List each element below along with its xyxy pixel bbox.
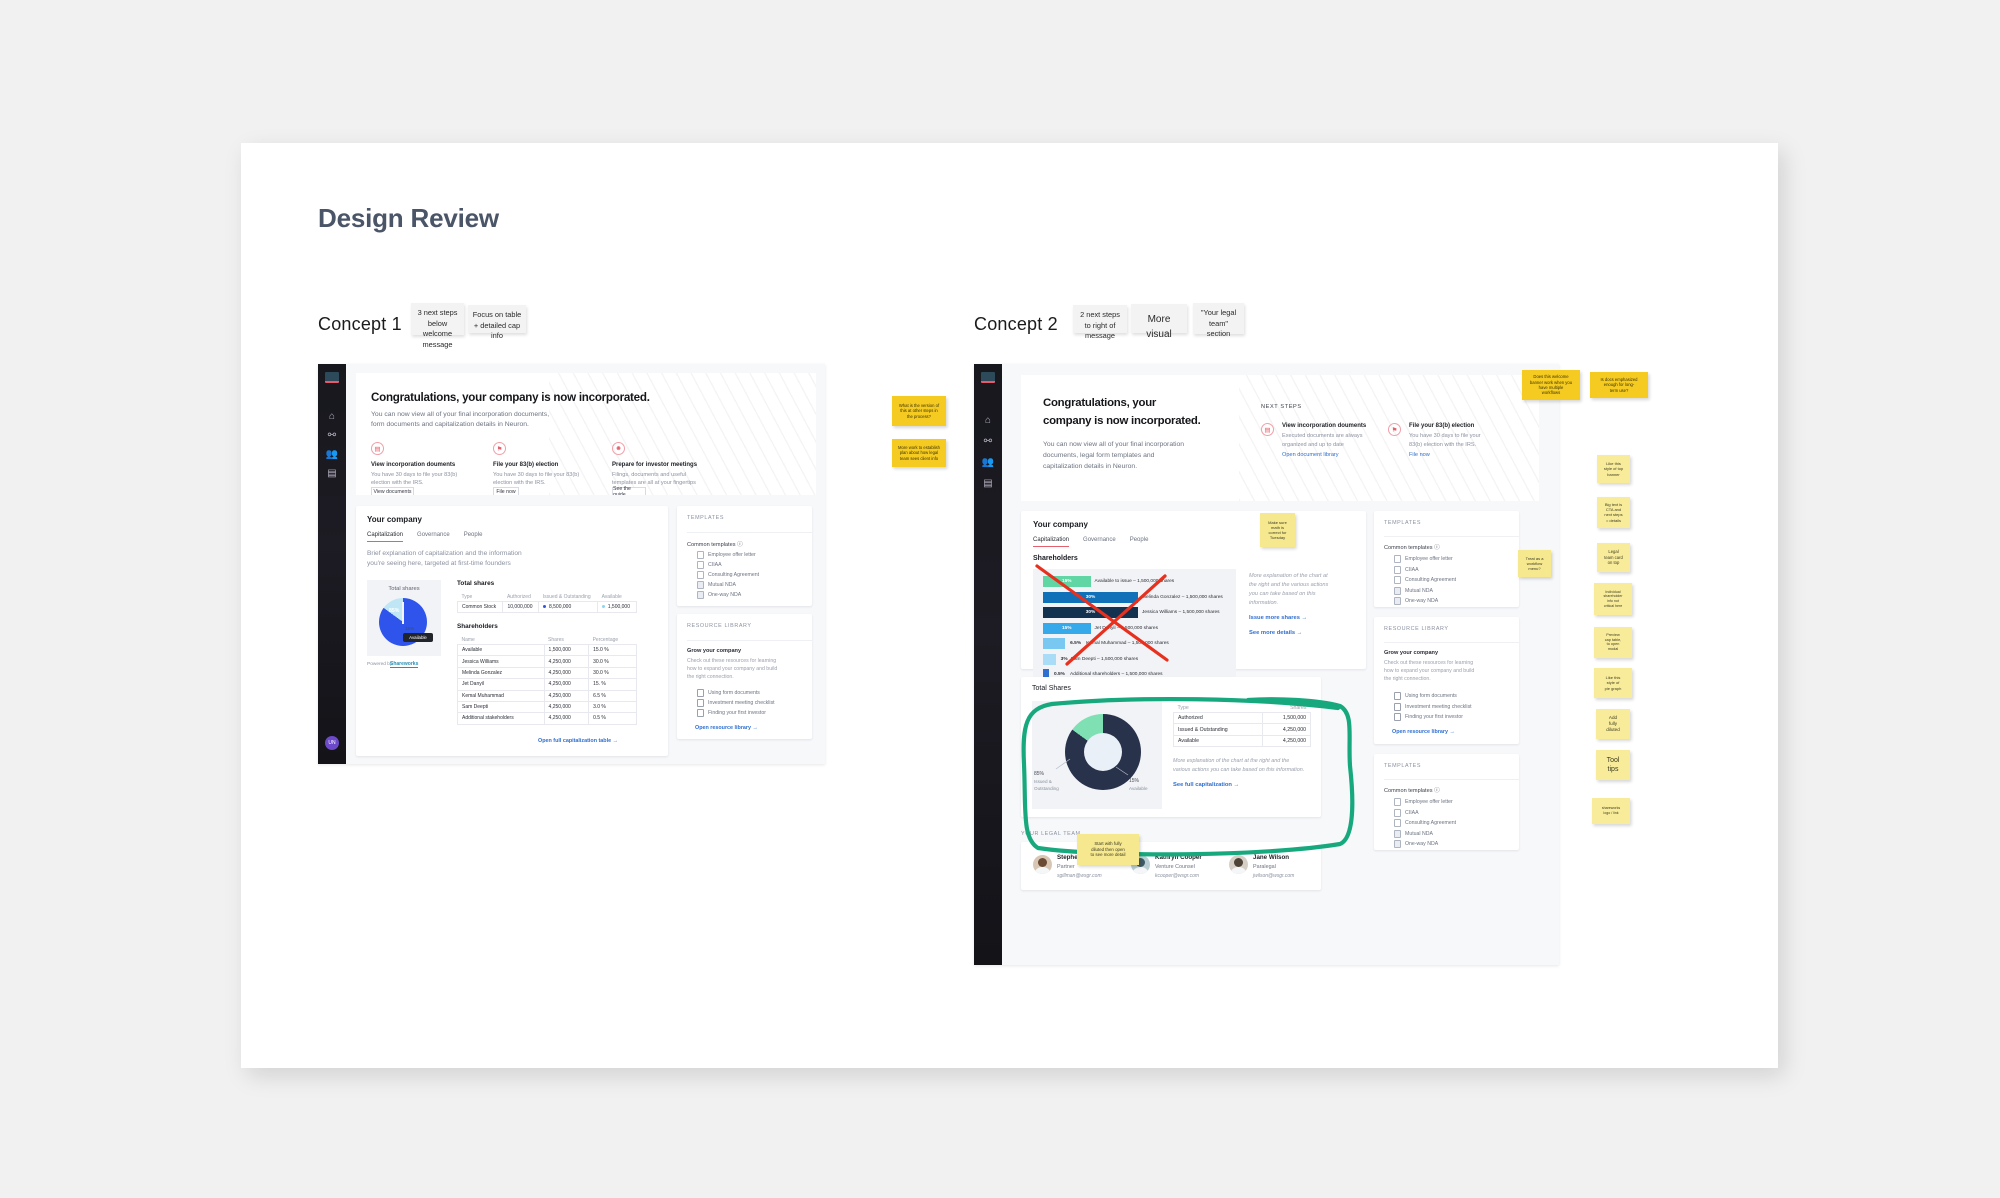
templates-kicker-2: TEMPLATES (1384, 763, 1421, 769)
total-shares-card: Total Shares 85% Issued & Outstanding 15… (1021, 677, 1321, 817)
list-item-label: Using form documents (708, 690, 760, 696)
resources-kicker: RESOURCE LIBRARY (1384, 626, 1449, 632)
total-shares-table: Type Authorized Issued & Outstanding Ava… (457, 592, 637, 613)
org-chart-icon[interactable]: ⚯ (982, 435, 994, 447)
bar-5 (1043, 654, 1056, 665)
banner-body-1: You can now view all of your final incor… (1043, 441, 1184, 448)
see-full-capitalization-link[interactable]: See full capitalization → (1173, 782, 1239, 788)
person-role: Paralegal (1253, 864, 1276, 870)
sticky-note-line: critical here (1594, 604, 1632, 609)
donut-panel: 85% Issued & Outstanding 15% Available (1032, 701, 1162, 809)
sticky-note-line: banner (1597, 472, 1630, 477)
table-header-row: NameSharesPercentage (458, 635, 637, 645)
documents-icon[interactable]: ▤ (982, 477, 994, 489)
cell-2: 15. % (589, 679, 637, 690)
legend-dot-issued (543, 605, 546, 608)
total-shares-note-2: various actions you can take based on th… (1173, 767, 1304, 773)
table-row: Available4,250,000 (1174, 735, 1311, 746)
sticky-note-line: logo / link (1592, 811, 1630, 816)
step-1-title: View incorporation douments (1282, 423, 1366, 429)
bar-label: Jessica Williams – 1,500,000 shares (1142, 610, 1220, 615)
templates-kicker: TEMPLATES (687, 515, 724, 521)
file-now-button[interactable]: File now (493, 487, 519, 495)
list-item-label: Using form documents (1405, 693, 1457, 699)
bar-percent-outside: 3% (1061, 657, 1068, 662)
step-2-desc-2: 83(b) election with the IRS. (1409, 442, 1476, 448)
step-1-title: View incorporation douments (371, 462, 455, 468)
your-company-card: Your company Capitalization Governance P… (356, 506, 668, 756)
step-2-desc-1: You have 30 days to file your (1409, 433, 1481, 439)
list-item-label: Investment meeting checklist (708, 700, 775, 706)
cell-0: Issued & Outstanding (1174, 724, 1263, 735)
bar-label: Sam Deepti – 1,500,000 shares (1071, 657, 1138, 662)
sticky-note[interactable]: Addfullydiluted (1596, 709, 1630, 739)
cell-0: Melinda Gonzalez (458, 667, 545, 678)
th-available: Available (598, 592, 637, 602)
sticky-note[interactable]: shareworkslogo / link (1592, 798, 1630, 824)
bar-percent: 30% (1086, 610, 1096, 615)
info-icon[interactable]: ⓘ (737, 542, 743, 548)
open-resource-library-link[interactable]: Open resource library → (1392, 729, 1455, 735)
app-logo-icon (325, 372, 339, 383)
document-icon (697, 571, 704, 579)
sticky-note[interactable]: Treat as aworkflowmenu? (1518, 550, 1551, 577)
list-item-label: Mutual NDA (1405, 831, 1433, 837)
cell-issued-value: 8,500,000 (549, 604, 571, 610)
chart-note-3: you can take based on this (1249, 591, 1316, 597)
sticky-note[interactable]: Previewcap table,to openmodal (1594, 627, 1632, 658)
cell-2: 6.5 % (589, 690, 637, 701)
th-2: Percentage (589, 635, 637, 645)
list-item-label: One-way NDA (1405, 598, 1438, 604)
table-row: Common Stock 10,000,000 8,500,000 1,500,… (458, 602, 637, 613)
list-item[interactable]: One-way NDA (1394, 840, 1438, 848)
list-item-label: Finding your first investor (1405, 714, 1463, 720)
list-item[interactable]: Consulting Agreement (1394, 576, 1456, 584)
documents-icon[interactable]: ▤ (326, 467, 338, 479)
step-1-desc-1: Executed documents are always (1282, 433, 1363, 439)
resources-heading: Grow your company (687, 648, 741, 654)
banner-body-line-2: form documents and capitalization detail… (371, 421, 529, 428)
pie-label-issued: 85% (389, 608, 399, 614)
info-icon[interactable]: ⓘ (1434, 788, 1440, 794)
divider (1384, 779, 1519, 780)
open-cap-table-link[interactable]: Open full capitalization table → (538, 738, 618, 744)
sticky-note[interactable]: More work to establishplan about how leg… (892, 439, 946, 467)
cell-0: Sam Deepti (458, 701, 545, 712)
book-icon (1394, 692, 1401, 700)
legend-dot-available (602, 605, 605, 608)
divider (687, 532, 812, 533)
list-item[interactable]: Investment meeting checklist (697, 699, 775, 707)
step-2-desc-1: You have 30 days to file your 83(b) (493, 472, 579, 478)
resources-heading: Grow your company (1384, 650, 1438, 656)
cell-1: 4,250,000 (1262, 724, 1310, 735)
sticky-note-line: team sees client info (892, 456, 946, 461)
divider (1384, 642, 1519, 643)
cell-issued: 8,500,000 (539, 602, 598, 613)
document-icon (1394, 830, 1401, 838)
th-authorized: Authorized (503, 592, 539, 602)
list-item-label: Consulting Agreement (1405, 577, 1456, 583)
sticky-note-line: the process? (892, 414, 946, 419)
document-icon (1394, 809, 1401, 817)
list-item-label: Finding your first investor (708, 710, 766, 716)
concept-2-label: Concept 2 (974, 314, 1058, 335)
capitalization-blurb-2: you're seeing here, targeted at first-ti… (367, 560, 511, 567)
list-item[interactable]: Consulting Agreement (1394, 819, 1456, 827)
table-row: Kemal Muhammad4,250,0006.5 % (458, 690, 637, 701)
concept-2-chip-2: More visual (1131, 304, 1187, 333)
chart-note-4: information. (1249, 600, 1278, 606)
bar-2: 30% (1043, 607, 1138, 618)
th-1: Shares (1262, 703, 1310, 713)
step-1-desc-2: election with the IRS. (371, 480, 424, 486)
resources-body-2: how to expand your company and build (687, 666, 777, 672)
document-icon (1394, 555, 1401, 563)
document-icon (1394, 798, 1401, 806)
concept-2-mockup: ⌂ ⚯ 👥 ▤ Congratulations, your company is… (974, 364, 1559, 965)
powered-by-label: Powered by (367, 662, 392, 667)
document-icon (1394, 819, 1401, 827)
cell-1: 1,500,000 (544, 645, 589, 656)
cell-available: 1,500,000 (598, 602, 637, 613)
tab-capitalization[interactable]: Capitalization (367, 532, 403, 538)
list-item-label: Employee offer letter (1405, 799, 1453, 805)
document-icon (697, 581, 704, 589)
document-icon (697, 561, 704, 569)
cell-1: 4,250,000 (544, 690, 589, 701)
section-title: Your company (367, 515, 422, 524)
shareholders-title: Shareholders (1033, 555, 1078, 562)
concept-2-chip-1: 2 next steps to right of message (1073, 305, 1127, 333)
sticky-note-line: modal (1594, 647, 1632, 652)
divider (1384, 536, 1519, 537)
tab-people[interactable]: People (464, 532, 483, 538)
bar-label: Jet Danyil – 1,500,000 shares (1095, 626, 1158, 631)
resource-library-card: RESOURCE LIBRARY Grow your company Check… (1374, 617, 1519, 744)
list-item-label: CIIAA (708, 562, 722, 568)
concept-2-chip-3: "Your legal team" section (1193, 303, 1244, 334)
tab-governance[interactable]: Governance (1083, 537, 1116, 543)
avatar[interactable]: UN (325, 736, 339, 750)
templates-heading: Common templates ⓘ (1384, 543, 1440, 551)
app-sidebar: ⌂ ⚯ 👥 ▤ (974, 364, 1002, 965)
resources-body-1: Check out these resources for learning (687, 658, 776, 664)
welcome-banner: Congratulations, your company is now inc… (1021, 375, 1539, 501)
pie-caption: Total shares (367, 586, 441, 592)
list-item[interactable]: CIIAA (697, 561, 722, 569)
avatar (1229, 855, 1248, 874)
sticky-note-line: workflows (1522, 390, 1580, 395)
document-icon (1394, 597, 1401, 605)
see-more-details-link[interactable]: See more details → (1249, 630, 1302, 636)
table-row: Available1,500,00015.0 % (458, 645, 637, 656)
list-item[interactable]: Employee offer letter (1394, 555, 1453, 563)
list-item[interactable]: CIIAA (1394, 809, 1419, 817)
table-header-row: Type Authorized Issued & Outstanding Ava… (458, 592, 637, 602)
cell-1: 4,250,000 (544, 667, 589, 678)
filing-icon: ⚑ (493, 442, 506, 455)
table-row: Sam Deepti4,250,0003.0 % (458, 701, 637, 712)
book-icon (697, 689, 704, 697)
home-icon[interactable]: ⌂ (326, 410, 338, 422)
step-2-desc-2: election with the IRS. (493, 480, 546, 486)
list-item-label: Employee offer letter (708, 552, 756, 558)
total-shares-note-1: More explanation of the chart at the rig… (1173, 758, 1289, 764)
banner-heading-line-1: Congratulations, your (1043, 397, 1156, 409)
resources-body-2: how to expand your company and build (1384, 668, 1474, 674)
sticky-note-line: this at other steps in (892, 408, 946, 413)
table-row: Authorized1,500,000 (1174, 713, 1311, 724)
divider (687, 640, 812, 641)
templates-kicker: TEMPLATES (1384, 520, 1421, 526)
sticky-note-line: pie graph (1594, 686, 1632, 691)
document-icon: ▤ (1261, 423, 1274, 436)
th-type: Type (458, 592, 503, 602)
next-steps-kicker: NEXT STEPS (1261, 404, 1302, 410)
list-item-label: One-way NDA (708, 592, 741, 598)
tab-governance[interactable]: Governance (417, 532, 450, 538)
cell-1: 4,250,000 (544, 679, 589, 690)
bar-percent-outside: 6.5% (1070, 641, 1081, 646)
shareholders-title: Shareholders (457, 623, 498, 630)
banner-body-line-1: You can now view all of your final incor… (371, 411, 549, 418)
filing-icon: ⚑ (1388, 423, 1401, 436)
th-0: Type (1174, 703, 1263, 713)
bar-1: 30% (1043, 592, 1138, 603)
resources-body-3: the right connection. (687, 674, 734, 680)
open-resource-library-link[interactable]: Open resource library → (695, 725, 758, 731)
banner-heading-line-2: company is now incorporated. (1043, 415, 1201, 427)
org-chart-icon[interactable]: ⚯ (326, 429, 338, 441)
sticky-note[interactable]: Tooltips (1596, 750, 1630, 780)
sticky-note-line: to see more detail (1077, 852, 1139, 858)
sticky-note-line: diluted (1596, 727, 1630, 733)
person-role: Venture Counsel (1155, 864, 1195, 870)
person-name: Kathryn Cooper (1155, 854, 1202, 861)
sticky-note[interactable]: Does this welcomebanner work when youhav… (1522, 370, 1580, 400)
sticky-note[interactable]: Start with fullydiluted then opento see … (1077, 834, 1139, 865)
sticky-note-line: tips (1596, 765, 1630, 774)
templates-card: TEMPLATES Common templates ⓘ Employee of… (677, 506, 812, 606)
table-row: Jet Danyil4,250,00015. % (458, 679, 637, 690)
cell-2: 3.0 % (589, 701, 637, 712)
cell-0: Authorized (1174, 713, 1263, 724)
resources-body-1: Check out these resources for learning (1384, 660, 1473, 666)
people-icon[interactable]: 👥 (326, 448, 338, 460)
templates-heading-2: Common templates ⓘ (1384, 786, 1440, 794)
cell-1: 4,250,000 (544, 701, 589, 712)
resource-library-card: RESOURCE LIBRARY Grow your company Check… (677, 614, 812, 739)
th-issued: Issued & Outstanding (539, 592, 598, 602)
document-icon (697, 591, 704, 599)
total-shares-pie-panel: Total shares 85% 15% Available (367, 580, 441, 656)
capitalization-blurb-1: Brief explanation of capitalization and … (367, 550, 522, 557)
templates-card-2: TEMPLATES Common templates ⓘ Employee of… (1374, 754, 1519, 850)
th-0: Name (458, 635, 545, 645)
view-documents-button[interactable]: View documents (371, 487, 414, 495)
list-item-label: Employee offer letter (1405, 556, 1453, 562)
list-item[interactable]: Employee offer letter (697, 551, 756, 559)
app-logo-icon (981, 372, 995, 383)
list-item[interactable]: Mutual NDA (697, 581, 736, 589)
concept-1-chip-2: Focus on table + detailed cap info (468, 305, 526, 333)
list-item[interactable]: Finding your first investor (1394, 713, 1463, 721)
legal-team-kicker: YOUR LEGAL TEAM (1021, 831, 1081, 837)
banner-body-3: capitalization details in Neuron. (1043, 463, 1137, 470)
list-item[interactable]: Mutual NDA (1394, 587, 1433, 595)
sticky-note[interactable]: Is docs emphasizedenough for long-term u… (1590, 372, 1648, 398)
list-item-label: Consulting Agreement (1405, 820, 1456, 826)
shareholders-bar-chart: 15%Available to issue – 1,500,000 shares… (1033, 569, 1236, 684)
list-item-label: Mutual NDA (1405, 588, 1433, 594)
home-icon[interactable]: ⌂ (982, 414, 994, 426)
document-icon (1394, 587, 1401, 595)
sticky-note-line: Tool (1596, 756, 1630, 765)
th-1: Shares (544, 635, 589, 645)
bar-label: Melinda Gonzalez – 1,500,000 shares (1142, 595, 1223, 600)
list-item-label: One-way NDA (1405, 841, 1438, 847)
list-item-label: CIIAA (1405, 567, 1419, 573)
cell-authorized: 10,000,000 (503, 602, 539, 613)
pie-label-available: 15% (405, 626, 414, 631)
list-item[interactable]: Using form documents (697, 689, 760, 697)
bar-3: 15% (1043, 623, 1091, 634)
sticky-note[interactable]: Individualshareholderinfo notcritical he… (1594, 583, 1632, 615)
chart-note-1: More explanation of the chart at (1249, 573, 1328, 579)
sticky-note[interactable]: Legalteam cardon top (1597, 543, 1630, 572)
cell-1: 4,250,000 (1262, 735, 1310, 746)
list-item[interactable]: Investment meeting checklist (1394, 703, 1472, 711)
concept-1-chip-1: 3 next steps below welcome message (411, 303, 464, 335)
page-title: Design Review (318, 203, 499, 234)
bar-label: Available to issue – 1,500,000 shares (1095, 579, 1175, 584)
avatar (1033, 855, 1052, 874)
open-document-library-link[interactable]: Open document library (1282, 452, 1339, 458)
info-icon[interactable]: ⓘ (1434, 545, 1440, 551)
list-item[interactable]: Consulting Agreement (697, 571, 759, 579)
person-email[interactable]: jwilson@wsgr.com (1253, 873, 1294, 879)
cell-0: Available (1174, 735, 1263, 746)
sticky-note-line: plan about how legal (892, 450, 946, 455)
sticky-note-line: Tuesday (1260, 535, 1295, 540)
cell-2: 0.5 % (589, 713, 637, 724)
shareworks-logo: Shareworks (390, 661, 418, 668)
list-item-label: Investment meeting checklist (1405, 704, 1472, 710)
list-item-label: Consulting Agreement (708, 572, 759, 578)
pie-slice-divider (402, 602, 404, 624)
cell-2: 15.0 % (589, 645, 637, 656)
tab-capitalization[interactable]: Capitalization (1033, 537, 1069, 543)
donut-leader-lines (1032, 701, 1162, 809)
document-icon: ▤ (371, 442, 384, 455)
step-2-title: File your 83(b) election (493, 462, 558, 468)
tab-people[interactable]: People (1130, 537, 1149, 543)
bar-label: Kemal Muhammad – 1,500,000 shares (1086, 641, 1169, 646)
cell-0: Jet Danyil (458, 679, 545, 690)
templates-card: TEMPLATES Common templates ⓘ Employee of… (1374, 511, 1519, 607)
step-1-desc-2: organized and up to date (1282, 442, 1344, 448)
issue-more-shares-link[interactable]: Issue more shares → (1249, 615, 1307, 621)
your-company-card: Your company Capitalization Governance P… (1021, 511, 1366, 669)
sticky-note[interactable]: Like thisstyle of topbanner (1597, 455, 1630, 483)
total-shares-title: Total shares (457, 580, 494, 587)
resources-body-3: the right connection. (1384, 676, 1431, 682)
step-3-desc-1: Filings, documents and useful (612, 472, 686, 478)
app-sidebar: ⌂ ⚯ 👥 ▤ UN (318, 364, 346, 764)
list-item[interactable]: One-way NDA (697, 591, 741, 599)
cell-1: 4,250,000 (544, 656, 589, 667)
bar-percent: 15% (1062, 579, 1072, 584)
concept-1-label: Concept 1 (318, 314, 402, 335)
book-icon (1394, 703, 1401, 711)
sticky-note-line: term use? (1590, 388, 1648, 393)
document-icon (1394, 576, 1401, 584)
sticky-note-line: on top (1597, 560, 1630, 565)
cell-0: Available (458, 645, 545, 656)
book-icon (697, 709, 704, 717)
document-icon (1394, 566, 1401, 574)
list-item[interactable]: Mutual NDA (1394, 830, 1433, 838)
cell-1: 1,500,000 (1262, 713, 1310, 724)
document-icon (1394, 840, 1401, 848)
bar-0: 15% (1043, 576, 1091, 587)
see-the-guide-button[interactable]: See the guide (612, 487, 646, 495)
list-item[interactable]: CIIAA (1394, 566, 1419, 574)
file-now-link[interactable]: File now (1409, 452, 1430, 458)
people-icon[interactable]: 👥 (982, 456, 994, 468)
cell-0: Kemal Muhammad (458, 690, 545, 701)
table-header-row: TypeShares (1174, 703, 1311, 713)
cell-2: 30.0 % (589, 656, 637, 667)
total-shares-table: TypeSharesAuthorized1,500,000Issued & Ou… (1173, 703, 1311, 747)
list-item[interactable]: One-way NDA (1394, 597, 1438, 605)
sticky-note-line: = details (1597, 518, 1630, 523)
step-1-desc-1: You have 30 days to file your 83(b) (371, 472, 457, 478)
list-item[interactable]: Using form documents (1394, 692, 1457, 700)
concept-1-mockup: ⌂ ⚯ 👥 ▤ UN Congratulations, your company… (318, 364, 825, 764)
legal-team-card: Stephen GillmanPartnersgillman@wsgr.comK… (1021, 842, 1321, 890)
step-2-title: File your 83(b) election (1409, 423, 1474, 429)
sticky-note[interactable]: Big text isCTA andnext steps= details (1597, 497, 1630, 528)
table-row: Melinda Gonzalez4,250,00030.0 % (458, 667, 637, 678)
step-3-title: Prepare for investor meetings (612, 462, 697, 468)
banner-body-2: documents, legal form templates and (1043, 452, 1154, 459)
resources-kicker: RESOURCE LIBRARY (687, 623, 752, 629)
sticky-note[interactable]: What is the version ofthis at other step… (892, 396, 946, 426)
sticky-note[interactable]: Make suremath iscorrect forTuesday (1260, 513, 1295, 547)
list-item-label: CIIAA (1405, 810, 1419, 816)
list-item[interactable]: Finding your first investor (697, 709, 766, 717)
bar-4 (1043, 638, 1065, 649)
sticky-note[interactable]: Like thisstyle ofpie graph (1594, 668, 1632, 698)
person-role: Partner (1057, 864, 1075, 870)
person-email[interactable]: sgillman@wsgr.com (1057, 873, 1102, 879)
total-shares-title: Total Shares (1032, 685, 1071, 692)
welcome-banner: Congratulations, your company is now inc… (356, 373, 816, 495)
sticky-note-line: menu? (1518, 566, 1551, 571)
banner-heading: Congratulations, your company is now inc… (371, 391, 650, 404)
book-icon (697, 699, 704, 707)
list-item[interactable]: Employee offer letter (1394, 798, 1453, 806)
whiteboard-canvas: Design Review Concept 1 3 next steps bel… (0, 0, 2000, 1198)
cell-type: Common Stock (458, 602, 503, 613)
list-item-label: Mutual NDA (708, 582, 736, 588)
person-email[interactable]: kcooper@wsgr.com (1155, 873, 1199, 879)
document-icon (697, 551, 704, 559)
cell-2: 30.0 % (589, 667, 637, 678)
